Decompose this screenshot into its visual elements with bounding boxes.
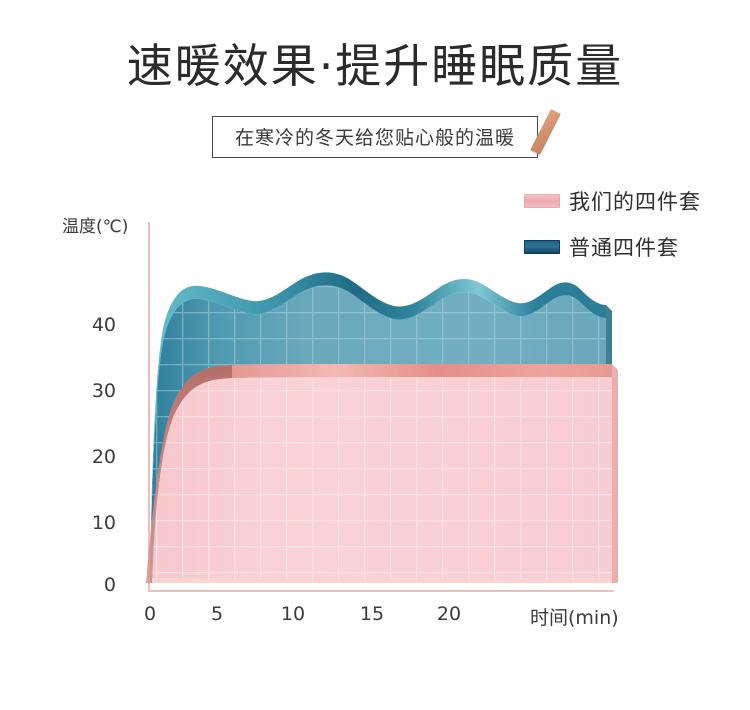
poster-root: 速暖效果·提升睡眠质量 在寒冷的冬天给您贴心般的温暖 我们的四件套 普通四件套 … [0, 0, 750, 710]
series-area-ours [146, 364, 618, 583]
chart-plot-svg [0, 0, 750, 710]
ours-area-grid [152, 377, 612, 583]
temperature-chart: 温度(℃) 时间(min) 40 30 20 10 0 0 5 10 15 20 [0, 0, 750, 710]
ours-right-bevel [612, 364, 618, 583]
ours-base-shadow [152, 578, 612, 583]
